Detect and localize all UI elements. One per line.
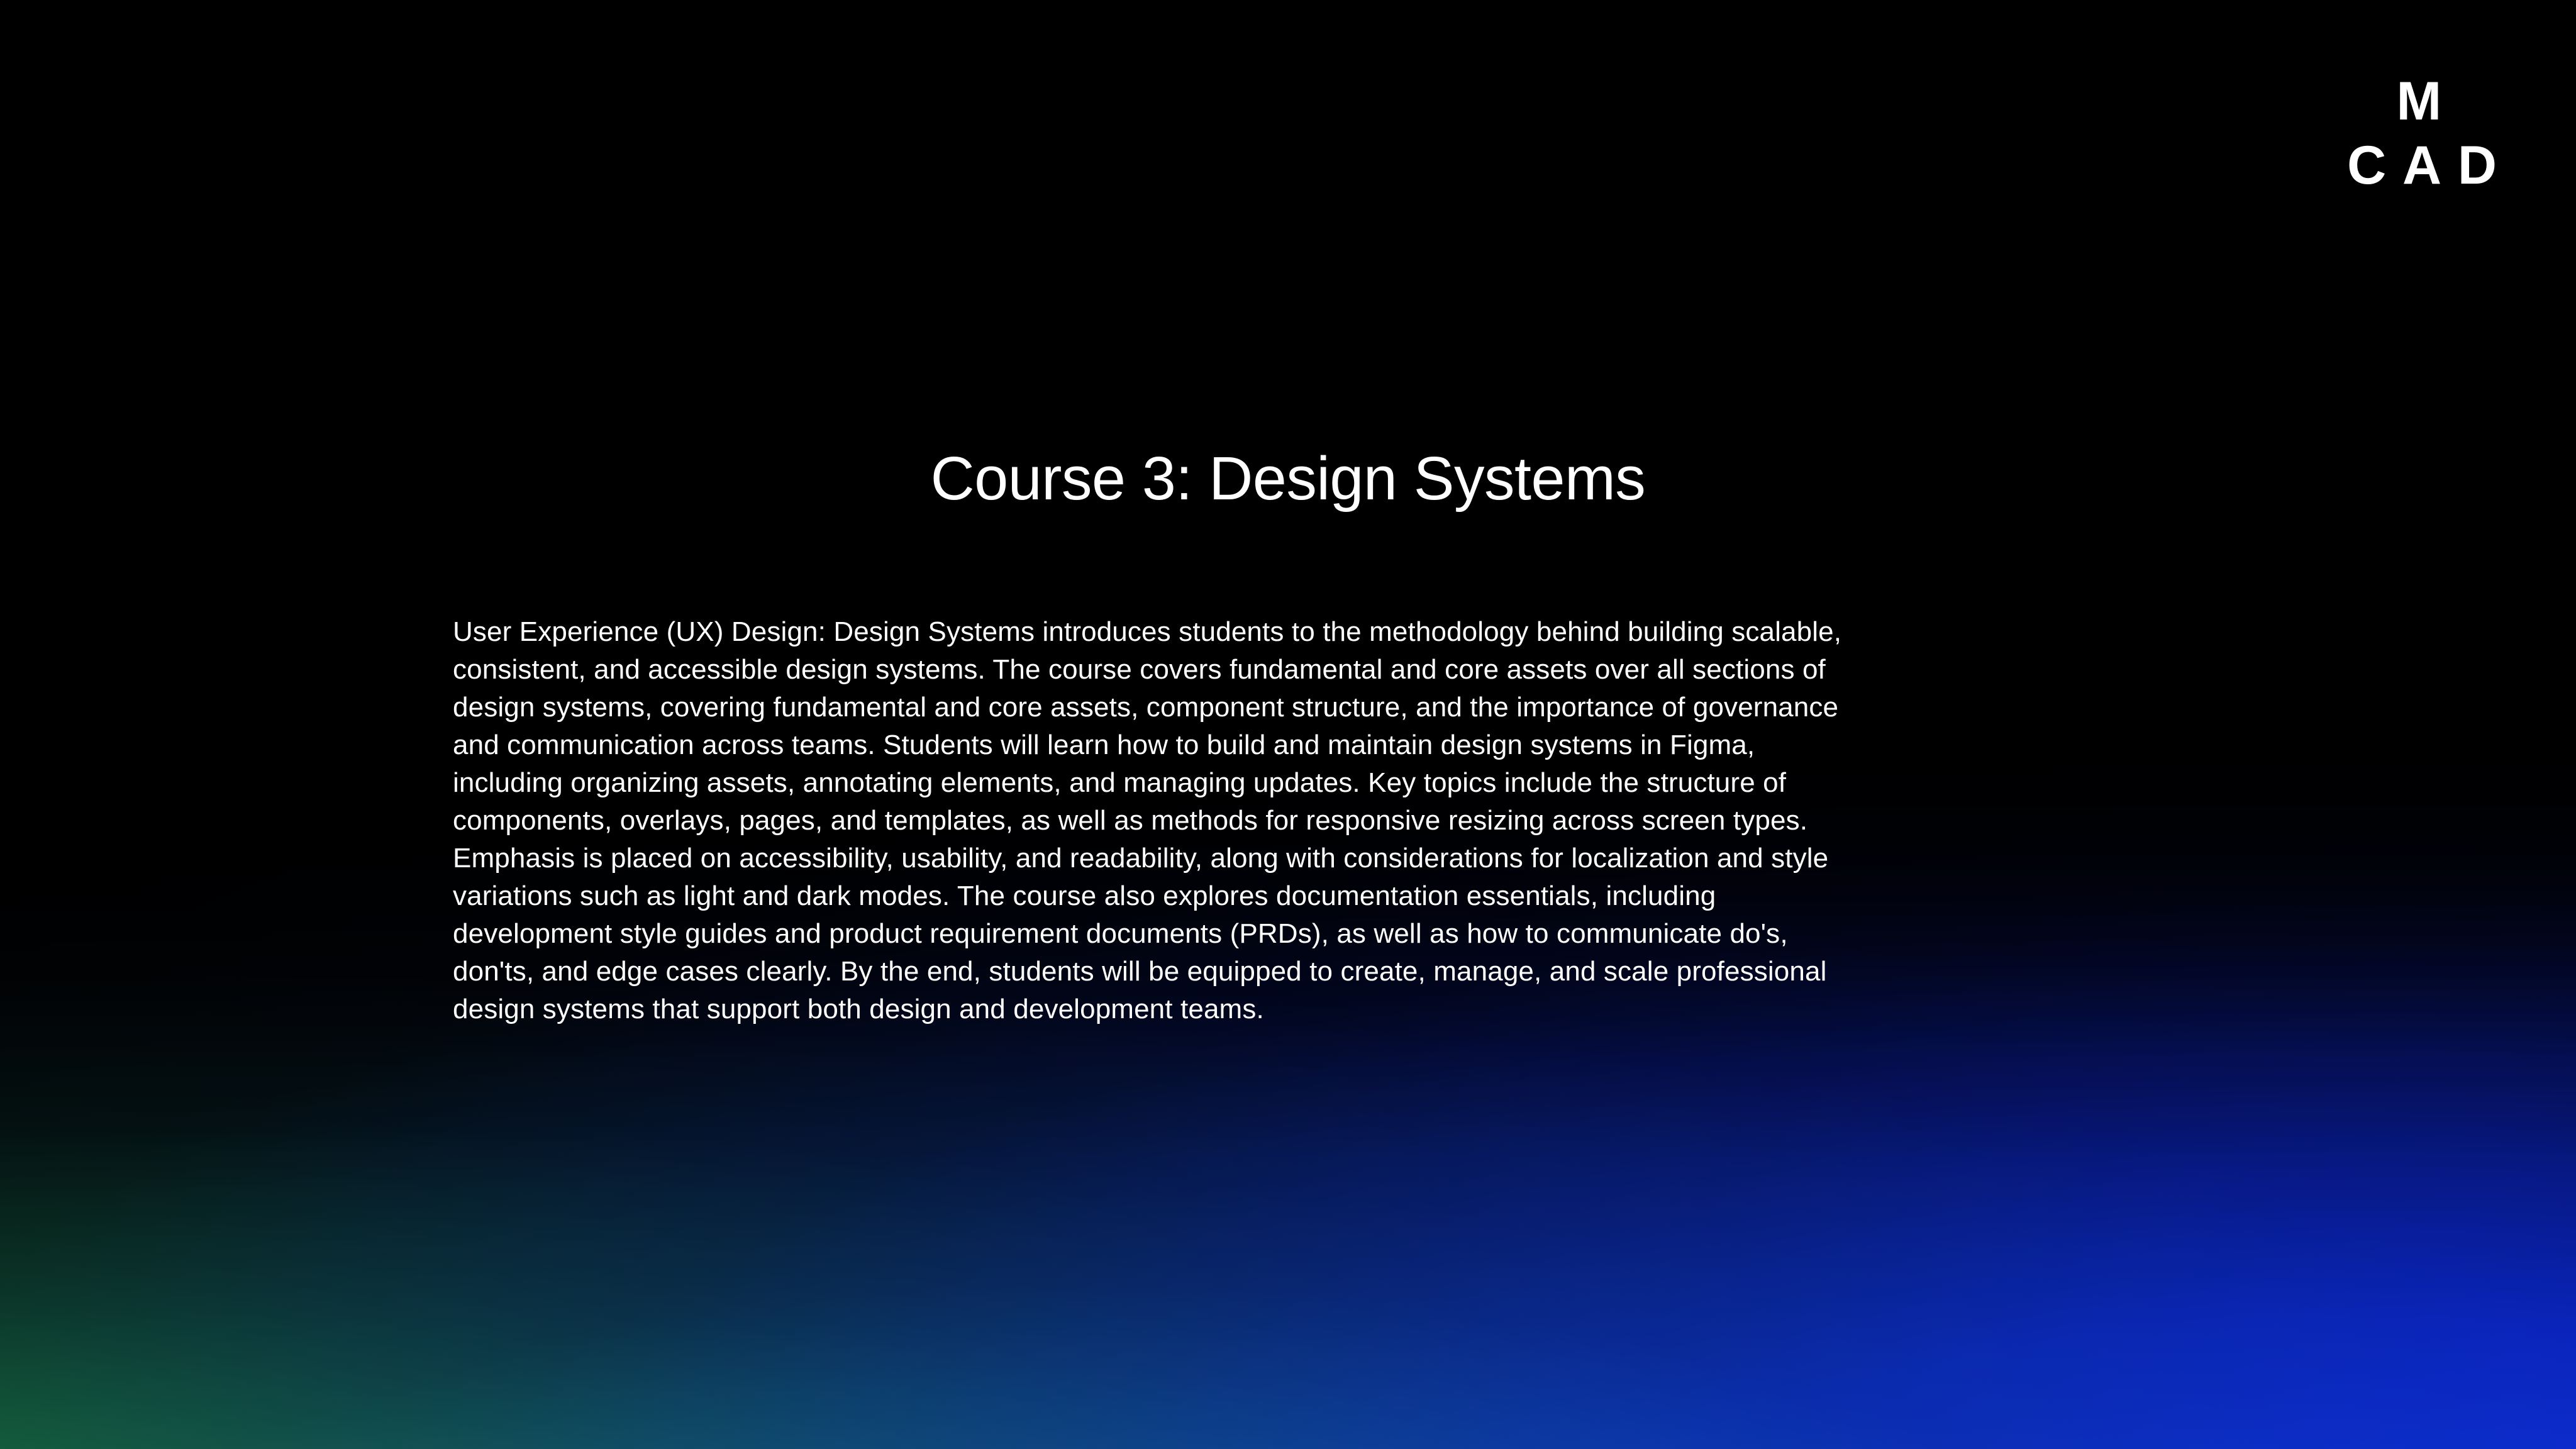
logo-line-m: M	[2347, 74, 2497, 128]
presentation-slide: M CAD Course 3: Design Systems User Expe…	[0, 0, 2576, 1449]
slide-title: Course 3: Design Systems	[0, 443, 2576, 514]
mcad-logo: M CAD	[2347, 74, 2497, 192]
course-description-text: User Experience (UX) Design: Design Syst…	[453, 613, 2101, 1028]
logo-line-cad: CAD	[2347, 138, 2513, 192]
